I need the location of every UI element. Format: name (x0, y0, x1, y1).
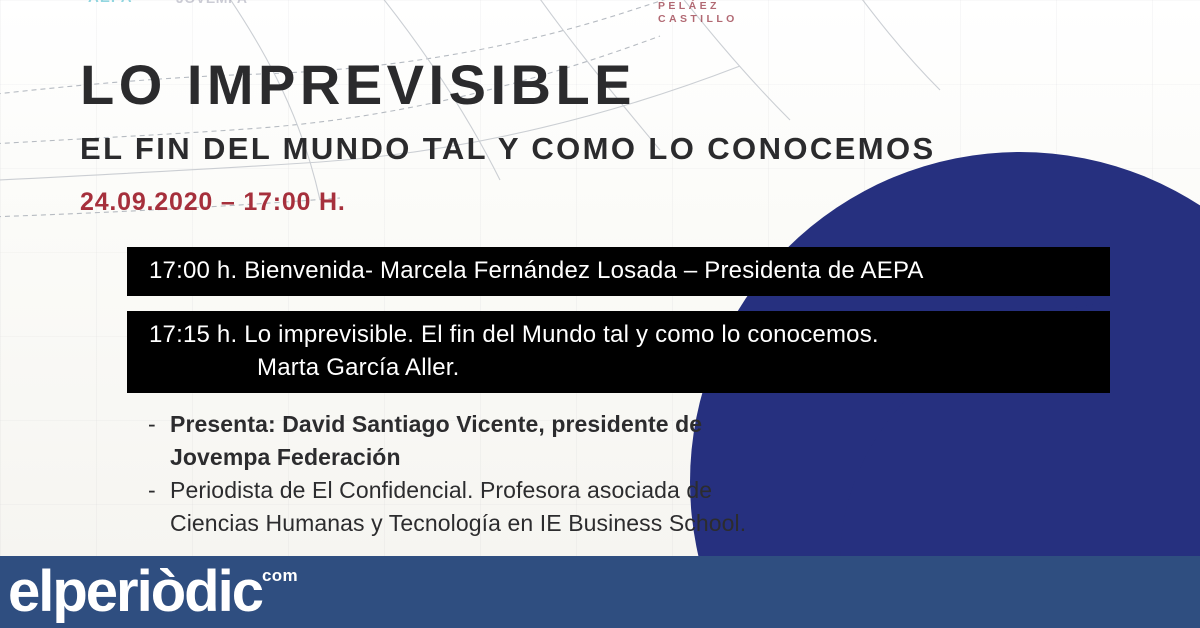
list-item: - Presenta: David Santiago Vicente, pres… (148, 408, 938, 474)
poster-canvas: AEPA JOVEMPA CENTRO EUROPEO DE EMPRESAS … (0, 0, 1200, 556)
bullet-list: - Presenta: David Santiago Vicente, pres… (148, 408, 938, 540)
bullet-text-line: Presenta: David Santiago Vicente, presid… (170, 411, 702, 437)
elperiodic-logo: elperiòdic (8, 563, 262, 621)
centro-europeo-logo: CENTRO EUROPEO DE EMPRESAS (298, 0, 522, 3)
program-line: 17:15 h. Lo imprevisible. El fin del Mun… (149, 318, 1110, 351)
program-line: 17:00 h. Bienvenida- Marcela Fernández L… (149, 254, 1110, 287)
list-item: - Periodista de El Confidencial. Profeso… (148, 474, 938, 540)
bullet-text: Presenta: David Santiago Vicente, presid… (170, 408, 702, 474)
program-bar-2: 17:15 h. Lo imprevisible. El fin del Mun… (127, 311, 1110, 393)
elperiodic-tld: com (262, 566, 298, 586)
manuel-pelaez-castillo-logo: MANUEL PELÁEZ CASTILLO (658, 0, 738, 26)
poster-datetime: 24.09.2020 – 17:00 H. (80, 188, 346, 217)
aepa-logo: AEPA (88, 0, 133, 6)
bullet-text-line: Periodista de El Confidencial. Profesora… (170, 477, 712, 503)
bullet-dash-icon: - (148, 408, 170, 441)
bullet-text-line: Ciencias Humanas y Tecnología en IE Busi… (170, 510, 746, 536)
bullet-text: Periodista de El Confidencial. Profesora… (170, 474, 746, 540)
poster-image: AEPA JOVEMPA CENTRO EUROPEO DE EMPRESAS … (0, 0, 1200, 628)
poster-title: LO IMPREVISIBLE (80, 52, 636, 117)
program-bar-1: 17:00 h. Bienvenida- Marcela Fernández L… (127, 247, 1110, 296)
poster-subtitle: EL FIN DEL MUNDO TAL Y COMO LO CONOCEMOS (80, 131, 936, 167)
jovempa-logo: JOVEMPA (176, 0, 248, 6)
bullet-dash-icon: - (148, 474, 170, 507)
sponsor-logo-strip: AEPA JOVEMPA CENTRO EUROPEO DE EMPRESAS … (0, 0, 1200, 40)
program-line-speaker: Marta García Aller. (149, 351, 1110, 384)
bullet-text-line: Jovempa Federación (170, 444, 401, 470)
watermark-bar: elperiòdic com (0, 556, 1200, 628)
